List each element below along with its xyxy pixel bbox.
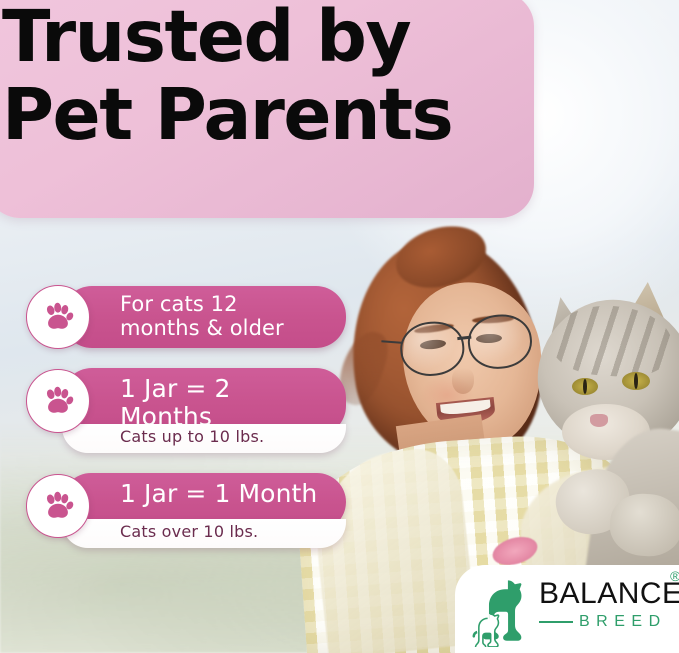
badge-subtitle-panel: Cats over 10 lbs.	[62, 519, 346, 548]
cat-eye-right	[622, 372, 650, 390]
badge-subtitle-panel: Cats up to 10 lbs.	[62, 424, 346, 453]
dog-and-cat-silhouette-icon	[465, 573, 539, 647]
eyeglass-lens-right	[465, 311, 534, 371]
badge-subtitle: Cats up to 10 lbs.	[62, 424, 346, 453]
headline-line-1: Trusted by	[2, 2, 522, 72]
paw-print-icon	[26, 474, 90, 538]
headline-line-2: Pet Parents	[2, 80, 522, 150]
paw-print-icon	[26, 369, 90, 433]
badge-subtitle: Cats over 10 lbs.	[62, 519, 346, 548]
page-title: Trusted by Pet Parents	[2, 2, 522, 149]
product-infographic-canvas: Trusted by Pet Parents For cats 12 month…	[0, 0, 679, 653]
brand-logo: BALANCED ® BREED	[455, 565, 679, 653]
woman-teeth	[440, 399, 491, 415]
woman-nose	[452, 368, 474, 394]
brand-rule-divider	[539, 621, 573, 623]
paw-print-icon	[26, 285, 90, 349]
badge-title: For cats 12 months & older	[62, 286, 346, 347]
headline-banner: Trusted by Pet Parents	[0, 0, 534, 218]
feature-badge-list: For cats 12 months & older 1 Jar = 2 Mon…	[26, 286, 346, 568]
registered-trademark-icon: ®	[670, 569, 679, 583]
brand-name-text: BALANCED	[539, 577, 679, 610]
brand-sub-text: BREED	[579, 614, 667, 630]
badge-pill: For cats 12 months & older	[62, 286, 346, 348]
cat-eye-left	[572, 378, 598, 395]
feature-badge: 1 Jar = 2 Months Cats up to 10 lbs.	[26, 368, 346, 453]
brand-subline: BREED	[539, 614, 679, 630]
brand-name: BALANCED ®	[539, 579, 679, 609]
cat-nose	[590, 414, 608, 427]
eyeglass-lens-left	[398, 319, 467, 379]
brand-wordmark: BALANCED ® BREED	[539, 579, 679, 630]
feature-badge: 1 Jar = 1 Month Cats over 10 lbs.	[26, 473, 346, 548]
feature-badge: For cats 12 months & older	[26, 286, 346, 348]
badge-title: 1 Jar = 1 Month	[62, 473, 346, 513]
